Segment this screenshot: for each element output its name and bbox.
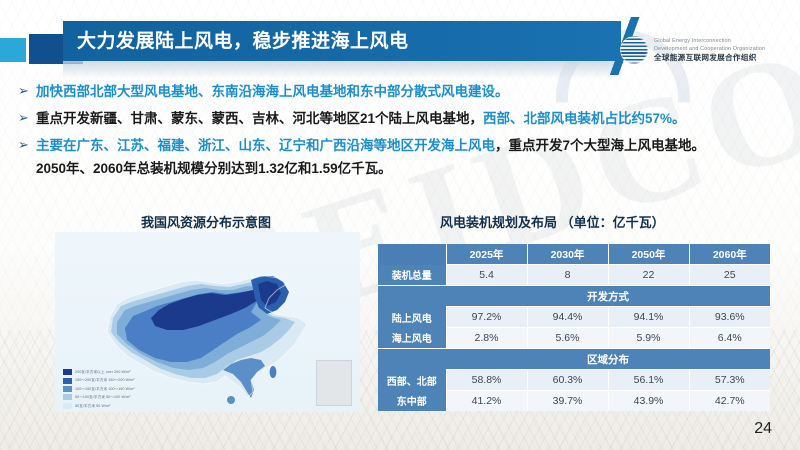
logo-text: Global Energy Interconnection Developmen… xyxy=(654,38,765,62)
page-title: 大力发展陆上风电，稳步推进海上风电 xyxy=(77,29,617,55)
table-cell: 60.3% xyxy=(527,370,608,391)
table-cell: 2.8% xyxy=(446,328,527,349)
logo-chinese: 全球能源互联网发展合作组织 xyxy=(654,53,765,62)
legend-item: 50～100瓦/平方米 50～100 W/m² xyxy=(63,393,213,401)
legend-label: 150～200瓦/平方米 150～200 W/m² xyxy=(75,376,135,384)
header-square-cyan xyxy=(0,38,26,62)
legend-swatch-icon xyxy=(63,369,72,375)
table-column-header: 2050年 xyxy=(608,244,689,265)
section-label: 区域分布 xyxy=(446,349,770,370)
table-cell: 5.6% xyxy=(527,328,608,349)
section-corner xyxy=(378,286,446,307)
legend-item: 150～200瓦/平方米 150～200 W/m² xyxy=(63,376,213,384)
table-cell: 5.9% xyxy=(608,328,689,349)
table-section-row: 区域分布 xyxy=(378,349,770,370)
table-cell: 42.7% xyxy=(689,391,770,412)
table-column-header: 2025年 xyxy=(446,244,527,265)
bullet-1-segment-1: 加快西部北部大型风电基地、东南沿海海上风电基地和东中部分散式风电建设。 xyxy=(36,84,509,99)
bullet-text-1: 加快西部北部大型风电基地、东南沿海海上风电基地和东中部分散式风电建设。 xyxy=(36,82,509,102)
bullet-list: ➢ 加快西部北部大型风电基地、东南沿海海上风电基地和东中部分散式风电建设。 ➢ … xyxy=(18,82,790,186)
bullet-arrow-icon: ➢ xyxy=(18,136,36,156)
bullet-2-segment-1: 重点开发新疆、甘肃、蒙东、蒙西、吉林、河北等地区21个陆上风电基地， xyxy=(36,111,483,126)
table-cell: 39.7% xyxy=(527,391,608,412)
table-cell: 41.2% xyxy=(446,391,527,412)
table-cell: 97.2% xyxy=(446,307,527,328)
legend-swatch-icon xyxy=(63,394,72,400)
table-section-row: 开发方式 xyxy=(378,286,770,307)
table-cell: 43.9% xyxy=(608,391,689,412)
legend-item: 200瓦/平方米以上 over 200 W/m² xyxy=(63,368,213,376)
legend-label: 200瓦/平方米以上 over 200 W/m² xyxy=(75,368,131,376)
bullet-3-segment-1: 主要在广东、江苏、福建、浙江、山东、辽宁和广西沿海等地区开发海上风电 xyxy=(36,138,495,153)
table-column-header: 2030年 xyxy=(527,244,608,265)
table-cell: 22 xyxy=(608,265,689,286)
row-label: 西部、北部 xyxy=(378,370,446,391)
bullet-item-3: ➢ 主要在广东、江苏、福建、浙江、山东、辽宁和广西沿海等地区开发海上风电，重点开… xyxy=(18,136,790,179)
section-label: 开发方式 xyxy=(446,286,770,307)
row-label: 陆上风电 xyxy=(378,307,446,328)
table-row: 海上风电 2.8% 5.6% 5.9% 6.4% xyxy=(378,328,770,349)
legend-swatch-icon xyxy=(63,386,72,392)
table-title: 风电装机规划及布局 （单位：亿千瓦） xyxy=(440,212,665,231)
bullet-arrow-icon: ➢ xyxy=(18,82,36,102)
organization-logo: Global Energy Interconnection Developmen… xyxy=(620,30,796,70)
legend-label: 100～150瓦/平方米 100～150 W/m² xyxy=(75,385,135,393)
table-row: 东中部 41.2% 39.7% 43.9% 42.7% xyxy=(378,391,770,412)
header-bar-shadow xyxy=(63,61,621,79)
table-column-header: 2060年 xyxy=(689,244,770,265)
table-cell: 93.6% xyxy=(689,307,770,328)
legend-label: 50～100瓦/平方米 50～100 W/m² xyxy=(75,393,130,401)
legend-swatch-icon xyxy=(63,403,72,409)
legend-item: 50瓦/平方米 50 W/m² xyxy=(63,402,213,410)
table-cell: 56.1% xyxy=(608,370,689,391)
bullet-text-3: 主要在广东、江苏、福建、浙江、山东、辽宁和广西沿海等地区开发海上风电，重点开发7… xyxy=(36,136,705,179)
row-label: 海上风电 xyxy=(378,328,446,349)
table-cell: 8 xyxy=(527,265,608,286)
table-cell: 25 xyxy=(689,265,770,286)
wind-capacity-table: 2025年 2030年 2050年 2060年 装机总量 5.4 8 22 25… xyxy=(378,244,770,411)
bullet-2-segment-2: 西部、北部风电装机占比约57%。 xyxy=(483,111,686,126)
table-row: 装机总量 5.4 8 22 25 xyxy=(378,265,770,286)
logo-english-line2: Development and Cooperation Organization xyxy=(654,46,765,52)
slide-header: 大力发展陆上风电，稳步推进海上风电 Global Energy Intercon… xyxy=(0,14,800,70)
section-corner xyxy=(378,349,446,370)
table-cell: 57.3% xyxy=(689,370,770,391)
table-corner-cell xyxy=(378,244,446,265)
row-label: 装机总量 xyxy=(378,265,446,286)
table-header-row: 2025年 2030年 2050年 2060年 xyxy=(378,244,770,265)
table-cell: 94.1% xyxy=(608,307,689,328)
bullet-3-subline: 2050年、2060年总装机规模分别达到1.32亿和1.59亿千瓦。 xyxy=(36,159,705,179)
logo-english-line1: Global Energy Interconnection xyxy=(654,38,765,44)
table-row: 西部、北部 58.8% 60.3% 56.1% 57.3% xyxy=(378,370,770,391)
table-cell: 94.4% xyxy=(527,307,608,328)
legend-swatch-icon xyxy=(63,378,72,384)
legend-label: 50瓦/平方米 50 W/m² xyxy=(75,402,110,410)
bullet-3-segment-2: ，重点开发7个大型海上风电基地。 xyxy=(495,138,705,153)
row-label: 东中部 xyxy=(378,391,446,412)
legend-item: 100～150瓦/平方米 100～150 W/m² xyxy=(63,385,213,393)
wind-resource-map: 200瓦/平方米以上 over 200 W/m² 150～200瓦/平方米 15… xyxy=(55,232,360,412)
table-cell: 6.4% xyxy=(689,328,770,349)
map-inset-south-china-sea xyxy=(316,360,352,406)
map-title: 我国风资源分布示意图 xyxy=(56,212,356,231)
table-cell: 58.8% xyxy=(446,370,527,391)
map-legend: 200瓦/平方米以上 over 200 W/m² 150～200瓦/平方米 15… xyxy=(63,368,213,410)
bullet-arrow-icon: ➢ xyxy=(18,109,36,129)
page-number: 24 xyxy=(754,420,772,438)
table-cell: 5.4 xyxy=(446,265,527,286)
bullet-text-2: 重点开发新疆、甘肃、蒙东、蒙西、吉林、河北等地区21个陆上风电基地，西部、北部风… xyxy=(36,109,686,129)
bullet-item-2: ➢ 重点开发新疆、甘肃、蒙东、蒙西、吉林、河北等地区21个陆上风电基地，西部、北… xyxy=(18,109,790,129)
slide: GEIDCO 大力发展陆上风电，稳步推进海上风电 Global Energy I… xyxy=(0,0,800,450)
table-row: 陆上风电 97.2% 94.4% 94.1% 93.6% xyxy=(378,307,770,328)
globe-icon xyxy=(620,36,648,64)
bullet-item-1: ➢ 加快西部北部大型风电基地、东南沿海海上风电基地和东中部分散式风电建设。 xyxy=(18,82,790,102)
